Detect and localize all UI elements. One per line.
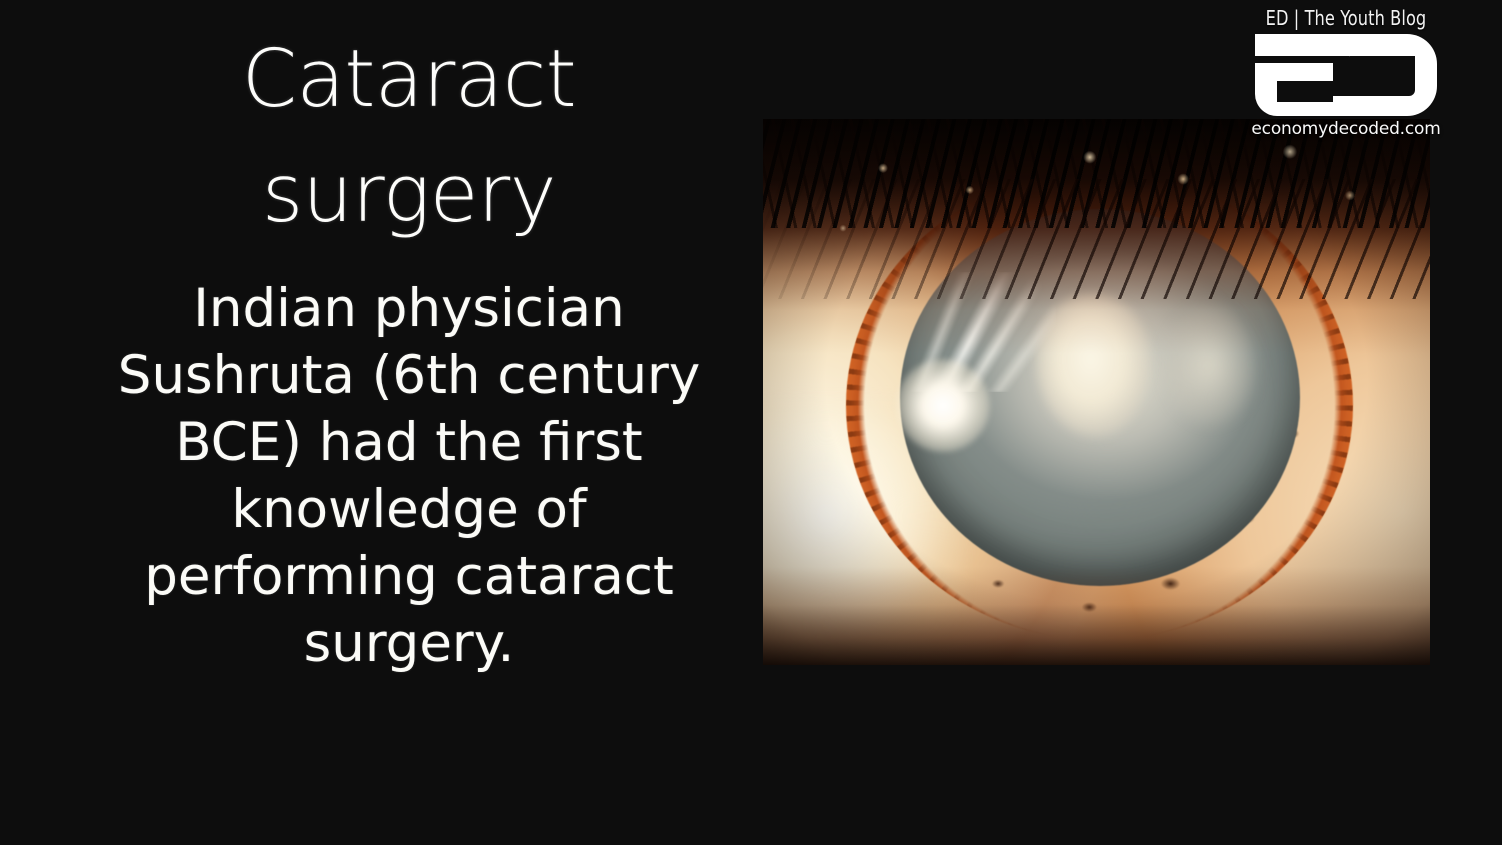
cataract-eye-photo (763, 119, 1430, 665)
body-line: Sushruta (6th century (108, 342, 710, 409)
photo-vignette (763, 119, 1430, 665)
body-line: performing cataract (108, 543, 710, 610)
logo-d-counter (1347, 56, 1415, 96)
body-line: Indian physician (108, 275, 710, 342)
ed-logo-icon (1255, 34, 1437, 116)
brand-tagline: ED | The Youth Blog (1256, 6, 1436, 30)
body-line: knowledge of (108, 476, 710, 543)
body-text-block: Indian physician Sushruta (6th century B… (108, 275, 710, 677)
text-column: Cataract surgery Indian physician Sushru… (108, 22, 710, 682)
page-title: Cataract surgery (108, 22, 710, 251)
brand-watermark: ED | The Youth Blog economydecoded.com (1246, 6, 1446, 139)
body-line: BCE) had the first (108, 409, 710, 476)
brand-url: economydecoded.com (1246, 119, 1446, 139)
body-line: surgery. (108, 610, 710, 677)
slide-canvas: Cataract surgery Indian physician Sushru… (0, 0, 1502, 845)
